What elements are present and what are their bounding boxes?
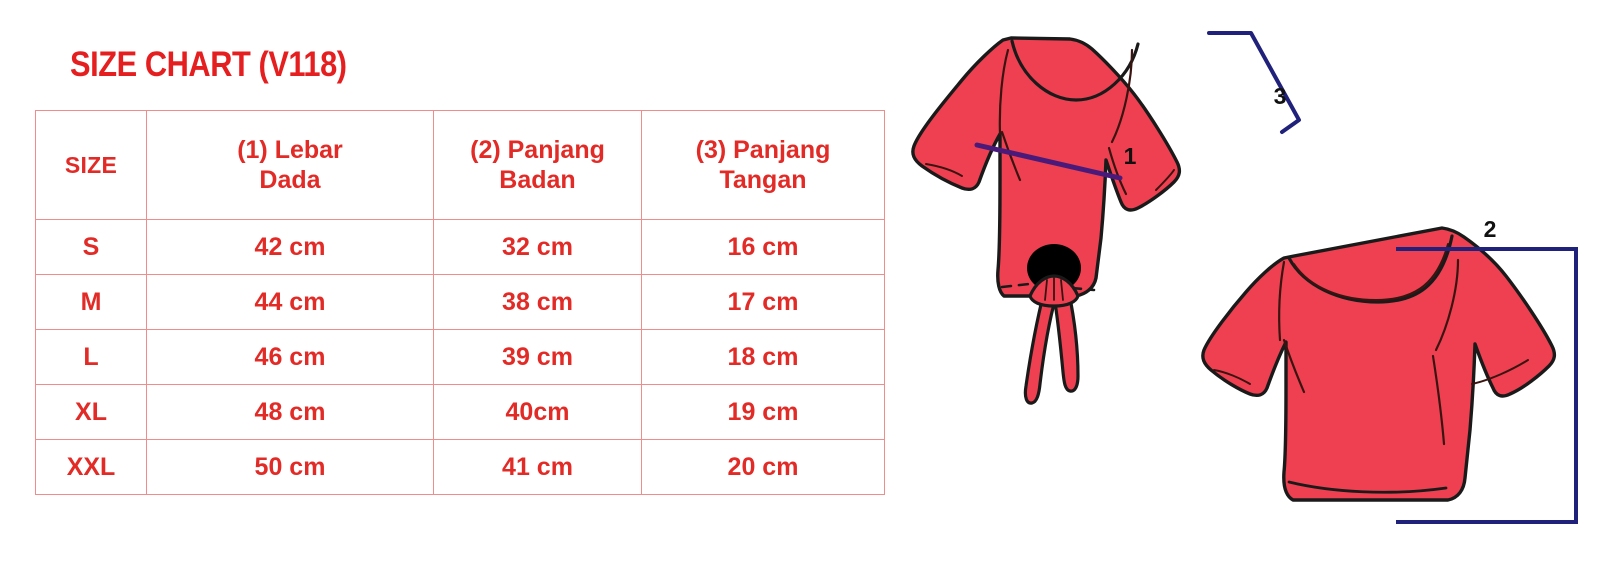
cell-panjang-badan: 39 cm bbox=[434, 330, 642, 385]
column-header-size: SIZE bbox=[36, 111, 147, 220]
measurement-2-label: 2 bbox=[1484, 216, 1497, 242]
column-header-lebar-dada-line-1: (1) Lebar bbox=[147, 135, 433, 166]
back-body-outline bbox=[1203, 228, 1555, 500]
cell-panjang-badan: 32 cm bbox=[434, 220, 642, 275]
cell-lebar-dada: 50 cm bbox=[147, 440, 434, 495]
cell-panjang-badan: 41 cm bbox=[434, 440, 642, 495]
cell-panjang-tangan: 19 cm bbox=[642, 385, 885, 440]
page-title: SIZE CHART (V118) bbox=[70, 47, 347, 82]
cell-panjang-badan: 40cm bbox=[434, 385, 642, 440]
table-row: XL 48 cm 40cm 19 cm bbox=[36, 385, 885, 440]
column-header-lebar-dada: (1) Lebar Dada bbox=[147, 111, 434, 220]
cell-size: L bbox=[36, 330, 147, 385]
column-header-panjang-tangan-line-2: Tangan bbox=[642, 165, 884, 196]
garment-illustrations: 1 3 bbox=[880, 0, 1600, 582]
column-header-panjang-tangan: (3) Panjang Tangan bbox=[642, 111, 885, 220]
table-row: XXL 50 cm 41 cm 20 cm bbox=[36, 440, 885, 495]
measurement-3-label: 3 bbox=[1274, 83, 1287, 109]
column-header-lebar-dada-line-2: Dada bbox=[147, 165, 433, 196]
table-row: S 42 cm 32 cm 16 cm bbox=[36, 220, 885, 275]
table-header: SIZE (1) Lebar Dada (2) Panjang Badan (3… bbox=[36, 111, 885, 220]
column-header-panjang-badan: (2) Panjang Badan bbox=[434, 111, 642, 220]
cell-lebar-dada: 48 cm bbox=[147, 385, 434, 440]
cell-size: XXL bbox=[36, 440, 147, 495]
tie-tail-right bbox=[1054, 293, 1078, 391]
table-body: S 42 cm 32 cm 16 cm M 44 cm 38 cm 17 cm … bbox=[36, 220, 885, 495]
column-header-panjang-badan-line-1: (2) Panjang bbox=[434, 135, 641, 166]
cell-panjang-tangan: 20 cm bbox=[642, 440, 885, 495]
cell-size: XL bbox=[36, 385, 147, 440]
column-header-panjang-badan-line-2: Badan bbox=[434, 165, 641, 196]
cell-lebar-dada: 46 cm bbox=[147, 330, 434, 385]
size-chart-table: SIZE (1) Lebar Dada (2) Panjang Badan (3… bbox=[35, 110, 885, 495]
cell-size: M bbox=[36, 275, 147, 330]
table-header-row: SIZE (1) Lebar Dada (2) Panjang Badan (3… bbox=[36, 111, 885, 220]
cell-panjang-badan: 38 cm bbox=[434, 275, 642, 330]
cell-lebar-dada: 42 cm bbox=[147, 220, 434, 275]
cell-panjang-tangan: 17 cm bbox=[642, 275, 885, 330]
measurement-1-label: 1 bbox=[1124, 143, 1137, 169]
measurement-3-sleeve-length: 3 bbox=[1209, 33, 1299, 132]
cell-size: S bbox=[36, 220, 147, 275]
cell-lebar-dada: 44 cm bbox=[147, 275, 434, 330]
cell-panjang-tangan: 16 cm bbox=[642, 220, 885, 275]
table-row: M 44 cm 38 cm 17 cm bbox=[36, 275, 885, 330]
crop-top-back-view: 2 bbox=[1203, 216, 1576, 522]
table-row: L 46 cm 39 cm 18 cm bbox=[36, 330, 885, 385]
column-header-size-line-1: SIZE bbox=[36, 151, 146, 179]
tie-tail-left bbox=[1025, 292, 1056, 403]
cell-panjang-tangan: 18 cm bbox=[642, 330, 885, 385]
column-header-panjang-tangan-line-1: (3) Panjang bbox=[642, 135, 884, 166]
